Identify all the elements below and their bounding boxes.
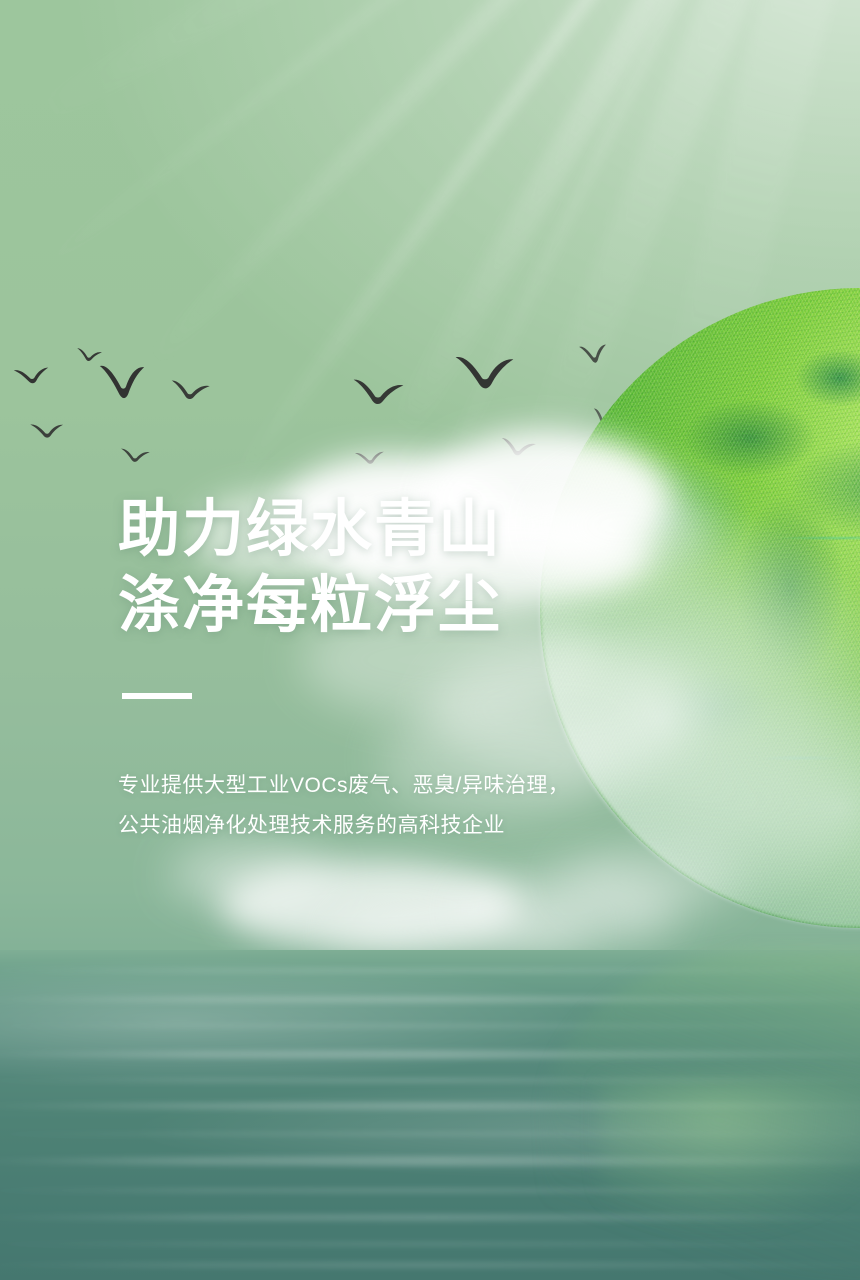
page-title: 助力绿水青山 涤净每粒浮尘 — [118, 492, 502, 644]
title-divider — [122, 693, 192, 699]
headline-line-1: 助力绿水青山 — [118, 495, 502, 564]
subtitle-line-2: 公共油烟净化处理技术服务的高科技企业 — [118, 814, 505, 837]
poster-content: 助力绿水青山 涤净每粒浮尘 专业提供大型工业VOCs废气、恶臭/异味治理， 公共… — [0, 0, 860, 1280]
headline-line-2: 涤净每粒浮尘 — [118, 571, 502, 640]
page-subtitle: 专业提供大型工业VOCs废气、恶臭/异味治理， 公共油烟净化处理技术服务的高科技… — [118, 766, 569, 846]
subtitle-line-1: 专业提供大型工业VOCs废气、恶臭/异味治理， — [118, 774, 569, 797]
eco-hero-poster: 助力绿水青山 涤净每粒浮尘 专业提供大型工业VOCs废气、恶臭/异味治理， 公共… — [0, 0, 860, 1280]
